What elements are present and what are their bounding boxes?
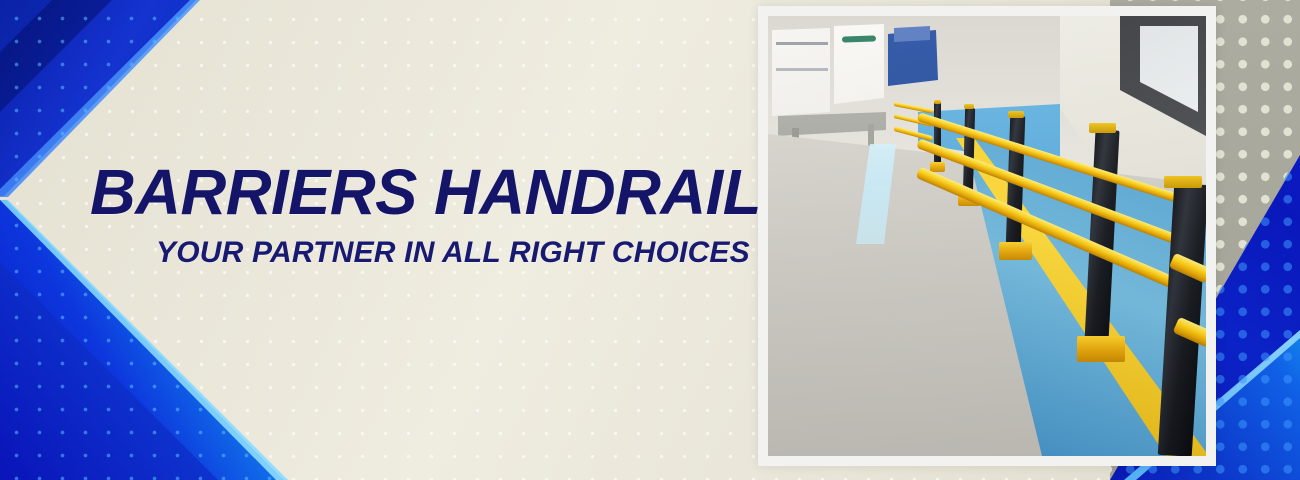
- photo-notice-board-marking: [842, 35, 876, 42]
- page-subtitle: YOUR PARTNER IN ALL RIGHT CHOICES: [156, 238, 730, 268]
- photo-frame: [758, 6, 1216, 466]
- photo-barrier-post-2-base: [999, 242, 1032, 260]
- photo-barrier-post-2-cap: [1008, 111, 1024, 118]
- photo-barrier-post-1-cap: [1089, 123, 1116, 133]
- photo-barrier-post-4-base: [930, 162, 945, 172]
- photo-barrier-post-3-cap: [964, 104, 974, 109]
- photo-notice-board-line-1: [776, 42, 828, 45]
- photo-barrier-post-1-base: [1077, 336, 1125, 362]
- photo-barrier-post-4-cap: [934, 100, 941, 104]
- headline-block: BARRIERS HANDRAIL YOUR PARTNER IN ALL RI…: [90, 160, 730, 268]
- photo-barrier-post-foreground-cap: [1164, 176, 1202, 188]
- photo-notice-board-line-2: [776, 68, 828, 71]
- page-title: BARRIERS HANDRAIL: [90, 160, 724, 224]
- promo-banner: BARRIERS HANDRAIL YOUR PARTNER IN ALL RI…: [0, 0, 1300, 480]
- barrier-handrail-photo: [768, 16, 1206, 456]
